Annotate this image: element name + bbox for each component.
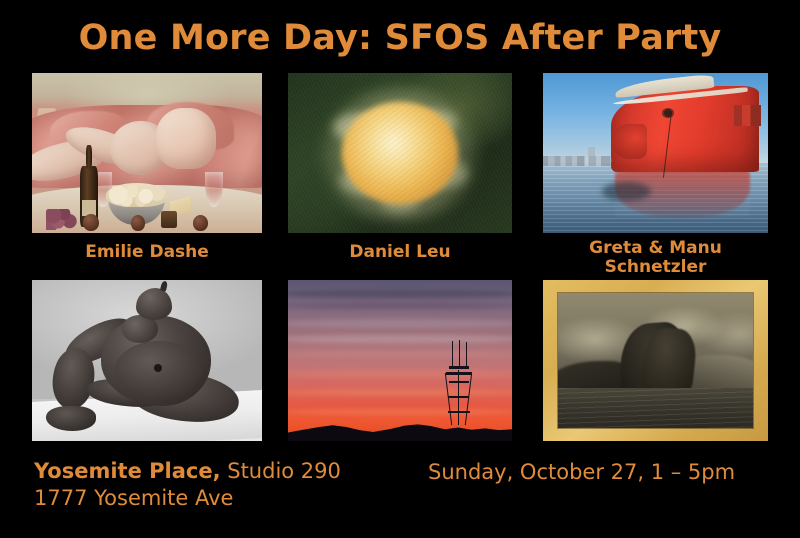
venue-line: Yosemite Place, Studio 290 bbox=[34, 458, 341, 485]
wave-drawing-image bbox=[543, 280, 768, 441]
cargo-ship-photograph-image bbox=[543, 73, 768, 233]
sculpture-photograph-image bbox=[32, 280, 262, 441]
sutro-tower-sunset-photograph-image bbox=[288, 280, 512, 441]
venue-name: Yosemite Place, bbox=[34, 459, 221, 483]
page-title: One More Day: SFOS After Party bbox=[0, 18, 800, 58]
artwork-caption-emilie-dashe: Emilie Dashe bbox=[32, 243, 262, 262]
artwork-caption-schnetzler: Greta & Manu Schnetzler bbox=[543, 239, 768, 277]
event-date-time: Sunday, October 27, 1 – 5pm bbox=[428, 459, 735, 486]
venue-street: 1777 Yosemite Ave bbox=[34, 485, 341, 512]
artwork-thumbnail-emilie-dashe[interactable] bbox=[32, 73, 262, 233]
sutro-tower-silhouette bbox=[445, 341, 474, 425]
artwork-thumbnail-sculpture[interactable] bbox=[32, 280, 262, 441]
artwork-thumbnail-wave[interactable] bbox=[543, 280, 768, 441]
artwork-thumbnail-sutro-tower[interactable] bbox=[288, 280, 512, 441]
artwork-thumbnail-daniel-leu[interactable] bbox=[288, 73, 512, 233]
artwork-caption-daniel-leu: Daniel Leu bbox=[288, 243, 512, 262]
flower-photograph-image bbox=[288, 73, 512, 233]
venue-studio: Studio 290 bbox=[221, 459, 341, 483]
venue-address-block: Yosemite Place, Studio 290 1777 Yosemite… bbox=[34, 458, 341, 512]
artwork-thumbnail-schnetzler[interactable] bbox=[543, 73, 768, 233]
event-poster: One More Day: SFOS After Party Emilie bbox=[0, 0, 800, 538]
figurative-painting-image bbox=[32, 73, 262, 233]
